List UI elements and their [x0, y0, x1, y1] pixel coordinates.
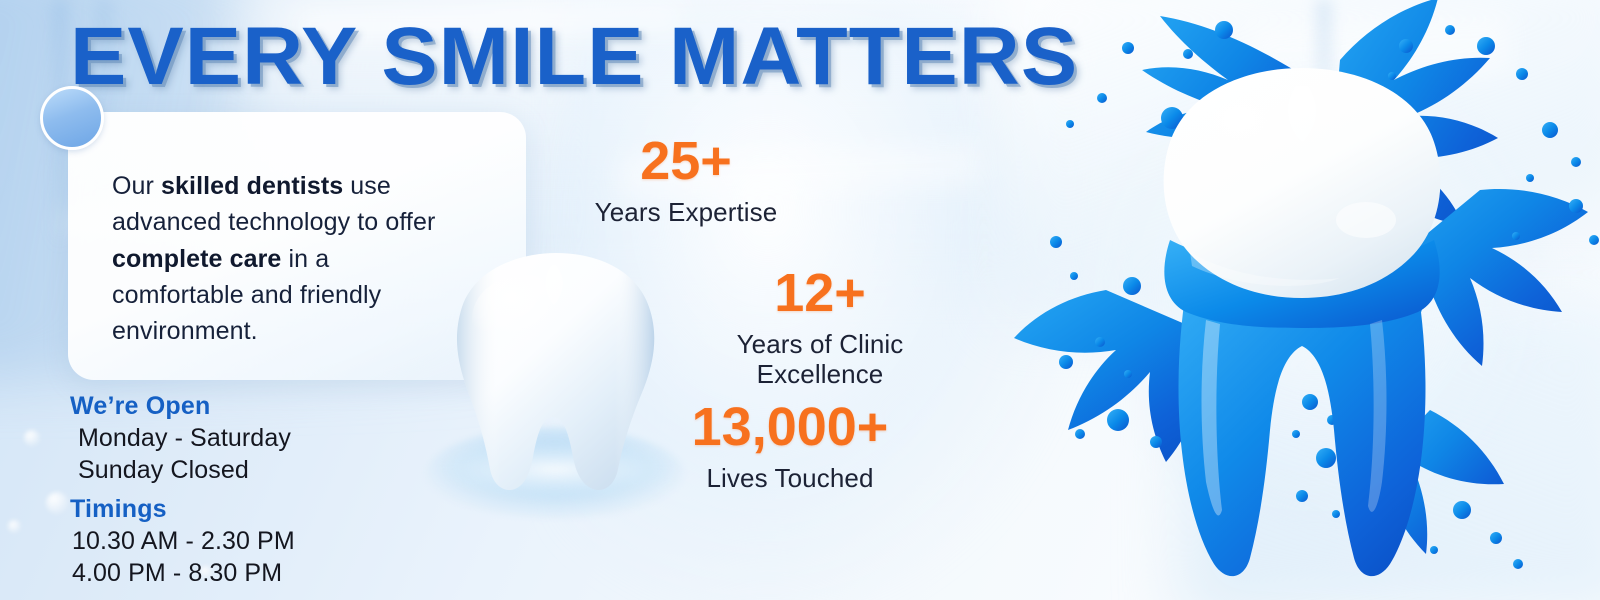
- open-heading: We’re Open: [70, 390, 400, 422]
- dental-clinic-banner: EVERY SMILE MATTERS Our skilled dentists…: [0, 0, 1600, 600]
- timings-heading: Timings: [70, 493, 400, 525]
- timing-evening: 4.00 PM - 8.30 PM: [70, 557, 400, 589]
- bokeh-dot: [8, 520, 21, 533]
- timing-morning: 10.30 AM - 2.30 PM: [70, 525, 400, 557]
- white-3d-tooth-icon: [420, 245, 690, 520]
- page-title: EVERY SMILE MATTERS: [70, 16, 1078, 98]
- open-days: Monday - Saturday: [70, 422, 400, 454]
- stat-value: 25+: [556, 134, 816, 188]
- opening-hours-block: We’re Open Monday - Saturday Sunday Clos…: [70, 390, 400, 589]
- stat-label: Lives Touched: [660, 464, 920, 494]
- bokeh-dot: [24, 430, 40, 446]
- stat-years-expertise: 25+ Years Expertise: [556, 134, 816, 228]
- blue-circle-badge-icon: [40, 86, 104, 150]
- stat-value: 13,000+: [660, 400, 920, 454]
- paint-splash-shape: [1010, 0, 1600, 600]
- closed-days: Sunday Closed: [70, 454, 400, 486]
- bokeh-dot: [46, 492, 68, 514]
- stat-label: Years of Clinic Excellence: [690, 330, 950, 390]
- stat-label: Years Expertise: [556, 198, 816, 228]
- info-card-text: Our skilled dentists use advanced techno…: [112, 168, 442, 349]
- stat-value: 12+: [690, 266, 950, 320]
- tooth-shape: [420, 245, 690, 520]
- blue-paint-dipped-molar-icon: [1010, 0, 1600, 600]
- stat-clinic-excellence: 12+ Years of Clinic Excellence: [690, 266, 950, 390]
- stat-lives-touched: 13,000+ Lives Touched: [660, 400, 920, 494]
